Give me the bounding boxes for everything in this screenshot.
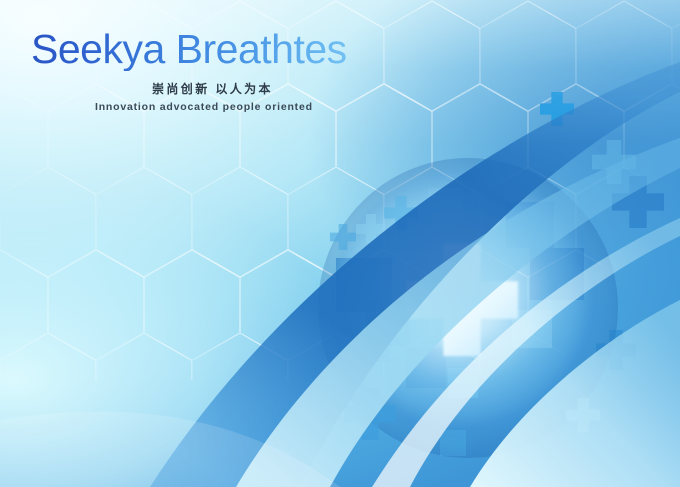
poster-canvas: Seekya Breathtes 崇尚创新 以人为本 Innovation ad… — [0, 0, 680, 487]
tagline-english: Innovation advocated people oriented — [95, 101, 313, 113]
tagline-chinese: 崇尚创新 以人为本 — [152, 80, 273, 97]
page-title: Seekya Breathtes — [31, 28, 347, 71]
top-light-wash — [0, 0, 680, 487]
